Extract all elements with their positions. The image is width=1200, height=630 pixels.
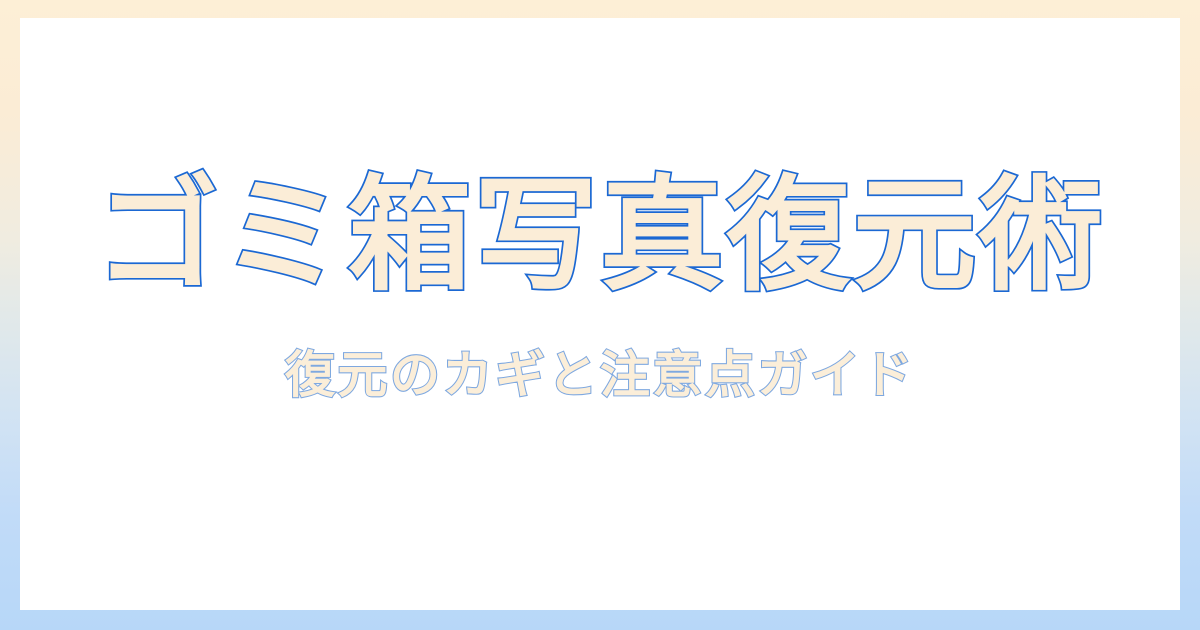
content-card: ゴミ箱写真復元術 復元のカギと注意点ガイド [20, 18, 1180, 610]
card-inner: ゴミ箱写真復元術 復元のカギと注意点ガイド [20, 171, 1180, 405]
page-subtitle: 復元のカギと注意点ガイド [20, 346, 1180, 405]
page-title: ゴミ箱写真復元術 [20, 171, 1180, 302]
banner-frame: ゴミ箱写真復元術 復元のカギと注意点ガイド [0, 0, 1200, 630]
